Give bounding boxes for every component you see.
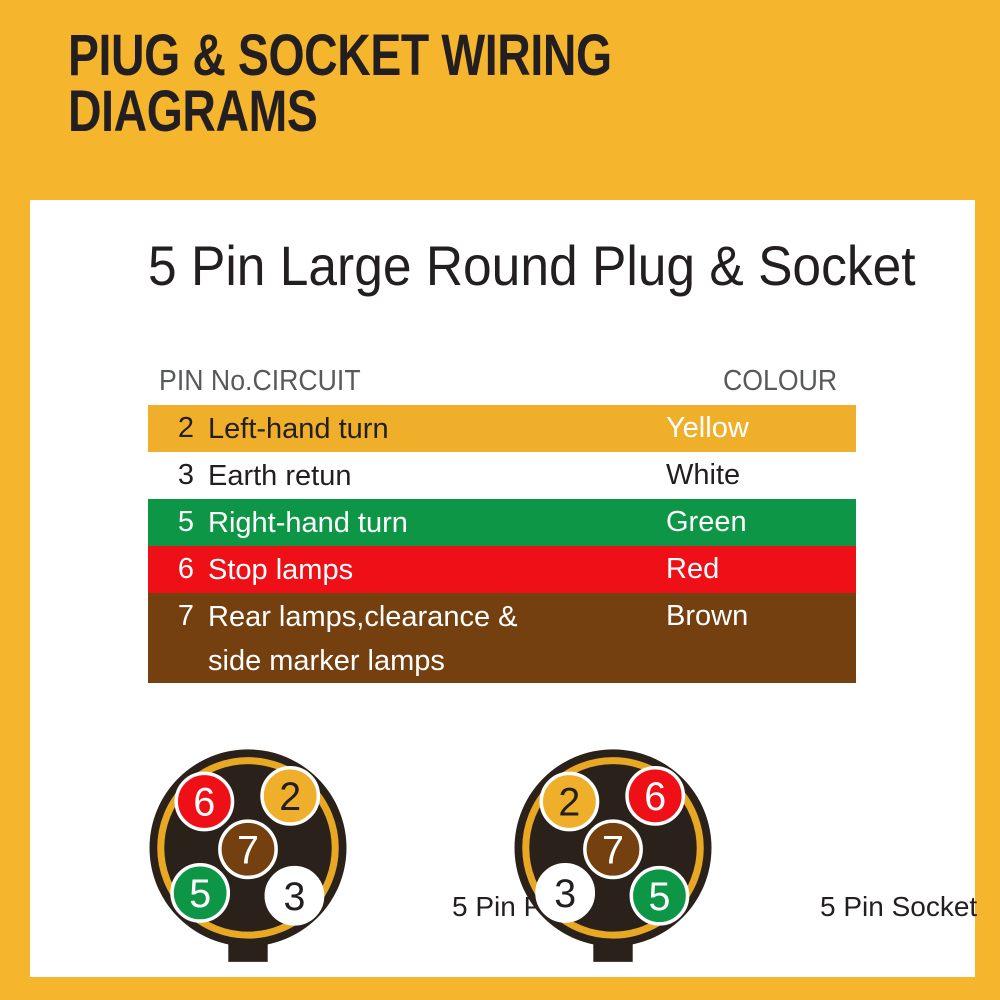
- row-pin-number: 6: [148, 546, 208, 593]
- row-pin-number: 5: [148, 499, 208, 546]
- table-row: 6Stop lampsRed: [148, 546, 856, 593]
- row-colour-name: Green: [658, 499, 856, 546]
- row-circuit-description: Rear lamps,clearance & side marker lamps: [208, 593, 658, 683]
- connector-diagrams: 62753 5 Pin Piug 26735 5 Pin Socket: [30, 748, 975, 977]
- plug-pin-label: 5: [189, 872, 211, 916]
- plug-pin-2: 2: [262, 768, 318, 824]
- plug-connector-graphic: 62753: [148, 748, 348, 990]
- plug-pin-3: 3: [266, 868, 322, 924]
- row-colour-name: Red: [658, 546, 856, 593]
- table-row: 5Right-hand turnGreen: [148, 499, 856, 546]
- plug-pin-label: 2: [279, 775, 301, 819]
- socket-pin-2: 2: [541, 773, 597, 829]
- plug-pin-7: 7: [220, 821, 276, 877]
- plug-pin-5: 5: [172, 865, 228, 921]
- plug-pin-label: 7: [237, 828, 259, 872]
- socket-pin-label: 5: [648, 875, 670, 919]
- column-header-pin-circuit: PIN No.CIRCUIT: [159, 365, 361, 398]
- socket-pin-label: 6: [644, 775, 666, 819]
- row-pin-number: 7: [148, 593, 208, 640]
- socket-pin-label: 3: [554, 872, 576, 916]
- socket-pin-label: 7: [602, 828, 624, 872]
- page-title: PIUG & SOCKET WIRING DIAGRAMS: [68, 28, 772, 141]
- socket-connector-graphic: 26735: [513, 748, 713, 990]
- socket-pin-7: 7: [585, 821, 641, 877]
- row-circuit-description: Earth retun: [208, 452, 658, 498]
- table-body: 2Left-hand turnYellow3Earth retunWhite5R…: [148, 405, 856, 683]
- socket-pin-3: 3: [537, 865, 593, 921]
- row-pin-number: 3: [148, 452, 208, 499]
- row-circuit-description: Left-hand turn: [208, 405, 658, 451]
- row-circuit-description: Right-hand turn: [208, 499, 658, 545]
- content-card: 5 Pin Large Round Plug & Socket PIN No.C…: [30, 200, 975, 977]
- row-pin-number: 2: [148, 405, 208, 452]
- socket-caption: 5 Pin Socket: [820, 891, 977, 923]
- row-colour-name: Yellow: [658, 405, 856, 452]
- socket-pin-5: 5: [631, 868, 687, 924]
- plug-pin-label: 6: [193, 781, 215, 825]
- section-title: 5 Pin Large Round Plug & Socket: [148, 238, 916, 294]
- table-row: 3Earth retunWhite: [148, 452, 856, 499]
- row-colour-name: Brown: [658, 593, 856, 640]
- row-colour-name: White: [658, 452, 856, 499]
- wiring-table: PIN No.CIRCUIT COLOUR 2Left-hand turnYel…: [148, 365, 856, 683]
- table-header-row: PIN No.CIRCUIT COLOUR: [148, 365, 799, 405]
- table-row: 7Rear lamps,clearance & side marker lamp…: [148, 593, 856, 683]
- socket-diagram: 26735: [513, 748, 713, 948]
- plug-diagram: 62753: [148, 748, 348, 948]
- table-row: 2Left-hand turnYellow: [148, 405, 856, 452]
- row-circuit-description: Stop lamps: [208, 546, 658, 592]
- plug-pin-6: 6: [176, 773, 232, 829]
- socket-pin-6: 6: [627, 768, 683, 824]
- socket-pin-label: 2: [558, 781, 580, 825]
- plug-pin-label: 3: [283, 875, 305, 919]
- column-header-colour: COLOUR: [723, 365, 837, 398]
